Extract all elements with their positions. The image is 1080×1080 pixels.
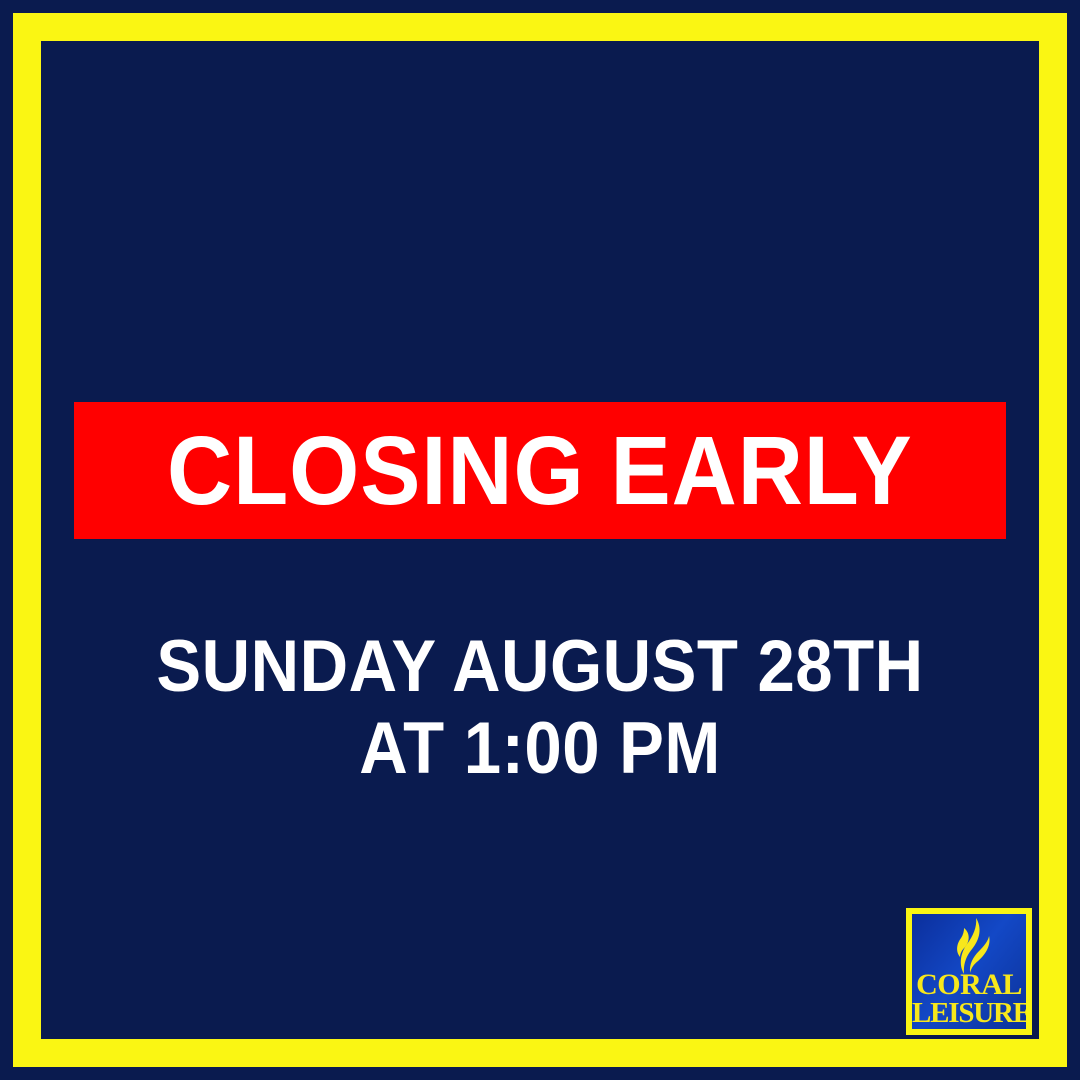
headline-text: CLOSING EARLY [167,422,913,519]
closing-early-poster: CLOSING EARLY SUNDAY AUGUST 28TH AT 1:00… [0,0,1080,1080]
announcement-date-line: SUNDAY AUGUST 28TH [43,626,1037,708]
headline-banner: CLOSING EARLY [74,402,1006,539]
logo-word-leisure: LEISURE [912,1000,1026,1028]
logo-field: CORAL LEISURE [912,914,1026,1029]
coral-leisure-logo: CORAL LEISURE [906,908,1032,1035]
announcement-block: SUNDAY AUGUST 28TH AT 1:00 PM [0,626,1080,790]
logo-word-coral: CORAL [912,971,1026,1000]
announcement-time-line: AT 1:00 PM [43,708,1037,790]
logo-wordmark: CORAL LEISURE [912,971,1026,1028]
